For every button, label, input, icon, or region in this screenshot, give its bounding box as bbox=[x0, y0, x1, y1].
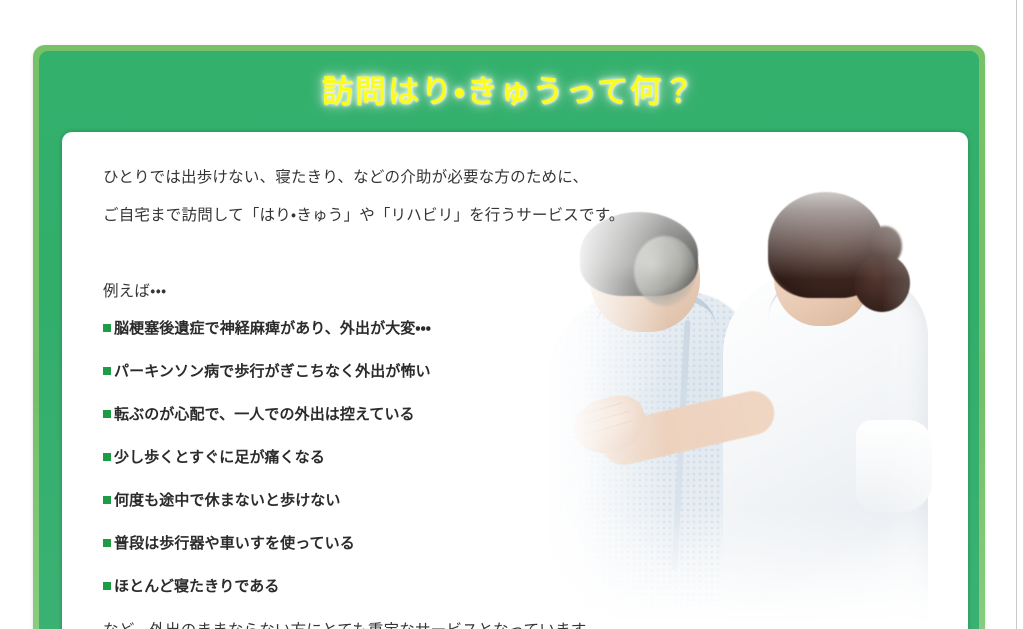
intro-line-1: ひとりでは出歩けない、寝たきり、などの介助が必要な方のために、 bbox=[103, 170, 702, 186]
square-bullet-icon bbox=[103, 453, 111, 461]
page-right-gutter bbox=[1016, 0, 1024, 629]
list-item-label: 何度も途中で休まないと歩けない bbox=[114, 489, 341, 510]
caregiver-hair-bun bbox=[854, 254, 910, 312]
caregiver-collar bbox=[768, 274, 878, 320]
example-list: 脳梗塞後遺症で神経麻痺があり、外出が大変・・・ パーキンソン病で歩行がぎこちなく… bbox=[103, 317, 702, 596]
closing-line: など、外出のままならない方にとても重宝なサービスとなっています。 bbox=[103, 618, 702, 629]
square-bullet-icon bbox=[103, 410, 111, 418]
page-title: 訪問はり・きゅうって何？ bbox=[322, 66, 696, 111]
intro-line-2: ご自宅まで訪問して「はり・きゅう」や「リハビリ」を行うサービスです。 bbox=[103, 208, 702, 224]
caregiver-hair bbox=[768, 192, 884, 298]
text-column: ひとりでは出歩けない、寝たきり、などの介助が必要な方のために、 ご自宅まで訪問し… bbox=[62, 132, 702, 629]
list-item: 転ぶのが心配で、一人での外出は控えている bbox=[103, 403, 702, 424]
list-item-label: 普段は歩行器や車いすを使っている bbox=[114, 532, 355, 553]
square-bullet-icon bbox=[103, 539, 111, 547]
list-item-label: 少し歩くとすぐに足が痛くなる bbox=[114, 446, 325, 467]
list-item-label: パーキンソン病で歩行がぎこちなく外出が怖い bbox=[114, 360, 431, 381]
caregiver-head bbox=[774, 222, 870, 326]
list-item-label: ほとんど寝たきりである bbox=[114, 575, 280, 596]
list-item: 脳梗塞後遺症で神経麻痺があり、外出が大変・・・ bbox=[103, 317, 702, 338]
page-viewport: 訪問はり・きゅうって何？ bbox=[0, 0, 1024, 629]
content-card: ひとりでは出歩けない、寝たきり、などの介助が必要な方のために、 ご自宅まで訪問し… bbox=[62, 132, 968, 629]
square-bullet-icon bbox=[103, 324, 111, 332]
caregiver-body bbox=[723, 274, 928, 625]
list-item: ほとんど寝たきりである bbox=[103, 575, 702, 596]
square-bullet-icon bbox=[103, 582, 111, 590]
list-item: 普段は歩行器や車いすを使っている bbox=[103, 532, 702, 553]
caregiver-hair-top bbox=[868, 226, 902, 266]
list-item-label: 脳梗塞後遺症で神経麻痺があり、外出が大変・・・ bbox=[114, 317, 431, 338]
list-item: 少し歩くとすぐに足が痛くなる bbox=[103, 446, 702, 467]
example-label: 例えば・・・ bbox=[103, 279, 702, 301]
list-item: 何度も途中で休まないと歩けない bbox=[103, 489, 702, 510]
green-frame-outer: 訪問はり・きゅうって何？ bbox=[33, 45, 985, 629]
square-bullet-icon bbox=[103, 496, 111, 504]
caregiver-ear bbox=[781, 262, 799, 286]
green-frame-inner: 訪問はり・きゅうって何？ bbox=[39, 51, 979, 629]
title-bar: 訪問はり・きゅうって何？ bbox=[39, 51, 979, 125]
gutter-divider-line bbox=[1016, 0, 1017, 629]
list-item-label: 転ぶのが心配で、一人での外出は控えている bbox=[114, 403, 415, 424]
square-bullet-icon bbox=[103, 367, 111, 375]
list-item: パーキンソン病で歩行がぎこちなく外出が怖い bbox=[103, 360, 702, 381]
caregiver-sleeve bbox=[856, 420, 932, 512]
